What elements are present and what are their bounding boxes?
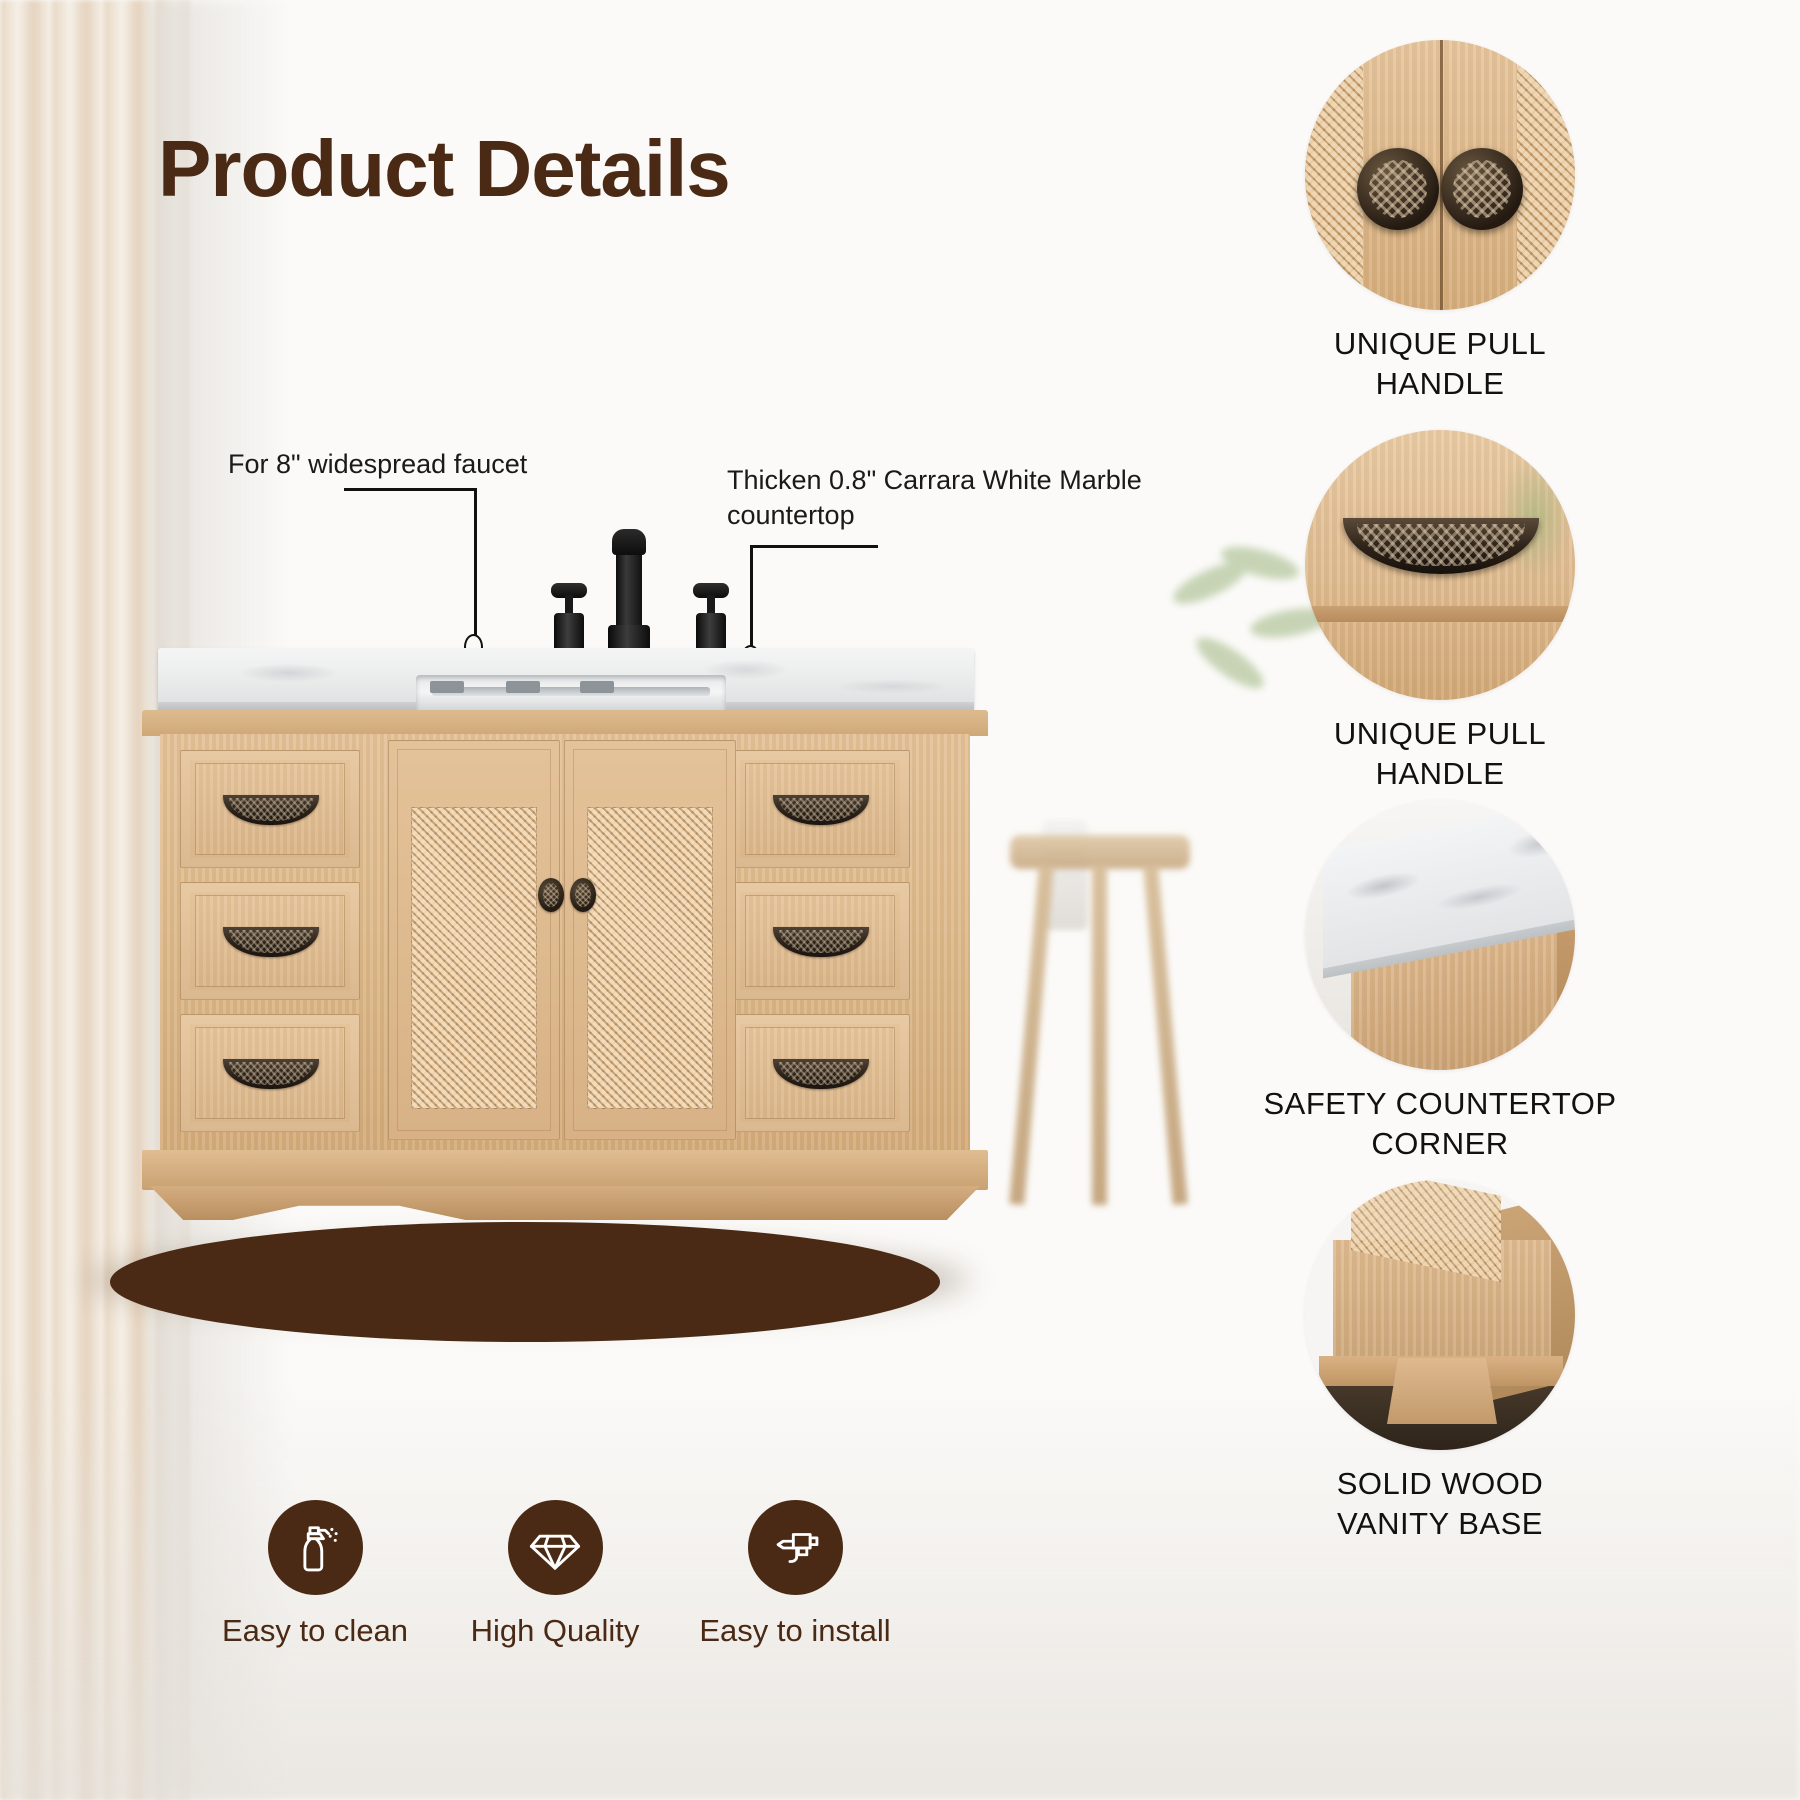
feature-card-corner: SAFETY COUNTERTOP CORNER: [1180, 800, 1700, 1165]
benefit-easy-to-install: Easy to install: [650, 1500, 940, 1649]
cup-pull-handle: [773, 927, 869, 957]
feature-card-base: SOLID WOOD VANITY BASE: [1180, 1180, 1700, 1545]
benefits-row: Easy to clean High Quality Easy to insta…: [170, 1500, 1050, 1730]
caption-line1: UNIQUE PULL: [1180, 714, 1700, 754]
cane-panel: [411, 807, 537, 1109]
cup-pull-handle: [773, 1059, 869, 1089]
callout-countertop-line2: countertop: [727, 498, 1207, 533]
caption-line1: SAFETY COUNTERTOP: [1180, 1084, 1700, 1124]
callout-countertop-line1: Thicken 0.8" Carrara White Marble: [727, 463, 1207, 498]
faucet-spout: [616, 533, 642, 633]
vanity-product-image: [120, 648, 1010, 1278]
cup-pull-handle: [773, 795, 869, 825]
vanity-cabinet: [120, 710, 1010, 1210]
double-knob-photo: [1305, 40, 1575, 310]
page-title: Product Details: [158, 123, 730, 215]
drawer-left-1: [180, 750, 360, 868]
cup-pull-handle: [223, 1059, 319, 1089]
feature-card-knobs: UNIQUE PULL HANDLE: [1180, 40, 1700, 405]
solid-wood-base-photo: [1305, 1180, 1575, 1450]
diamond-icon: [508, 1500, 603, 1595]
drawer-left-3: [180, 1014, 360, 1132]
feature-caption-cup-pull: UNIQUE PULL HANDLE: [1180, 714, 1700, 795]
feature-caption-corner: SAFETY COUNTERTOP CORNER: [1180, 1084, 1700, 1165]
feature-caption-knobs: UNIQUE PULL HANDLE: [1180, 324, 1700, 405]
caption-line1: UNIQUE PULL: [1180, 324, 1700, 364]
callout-faucet-label: For 8" widespread faucet: [228, 447, 527, 482]
drawer-right-3: [730, 1014, 910, 1132]
stool-decor: [1000, 835, 1200, 1245]
caption-line2: VANITY BASE: [1180, 1504, 1700, 1544]
feature-card-cup-pull: UNIQUE PULL HANDLE: [1180, 430, 1700, 795]
cabinet-door-right: [564, 740, 736, 1140]
drill-icon: [748, 1500, 843, 1595]
cup-pull-handle: [223, 795, 319, 825]
callout-countertop-label: Thicken 0.8" Carrara White Marble counte…: [727, 463, 1207, 533]
knob-left: [1357, 148, 1439, 230]
cup-pull-photo: [1305, 430, 1575, 700]
drawer-right-1: [730, 750, 910, 868]
caption-line2: HANDLE: [1180, 754, 1700, 794]
caption-line2: HANDLE: [1180, 364, 1700, 404]
caption-line2: CORNER: [1180, 1124, 1700, 1164]
cabinet-footer-apron: [150, 1186, 980, 1220]
knob-right: [1441, 148, 1523, 230]
leader-line-faucet: [344, 488, 484, 668]
marble-corner-photo: [1305, 800, 1575, 1070]
caption-line1: SOLID WOOD: [1180, 1464, 1700, 1504]
door-knob-left: [538, 878, 564, 912]
feature-caption-base: SOLID WOOD VANITY BASE: [1180, 1464, 1700, 1545]
cabinet-door-left: [388, 740, 560, 1140]
cabinet-top-rail: [142, 710, 988, 736]
cabinet-base-moulding: [142, 1150, 988, 1190]
vanity-foot: [1387, 1358, 1497, 1424]
benefit-label: Easy to install: [650, 1613, 940, 1649]
cup-pull-handle: [223, 927, 319, 957]
spray-bottle-icon: [268, 1500, 363, 1595]
door-knob-right: [570, 878, 596, 912]
faucet-holes: [420, 681, 720, 695]
drawer-left-2: [180, 882, 360, 1000]
cane-panel: [587, 807, 713, 1109]
drawer-right-2: [730, 882, 910, 1000]
faucet: [540, 533, 740, 658]
